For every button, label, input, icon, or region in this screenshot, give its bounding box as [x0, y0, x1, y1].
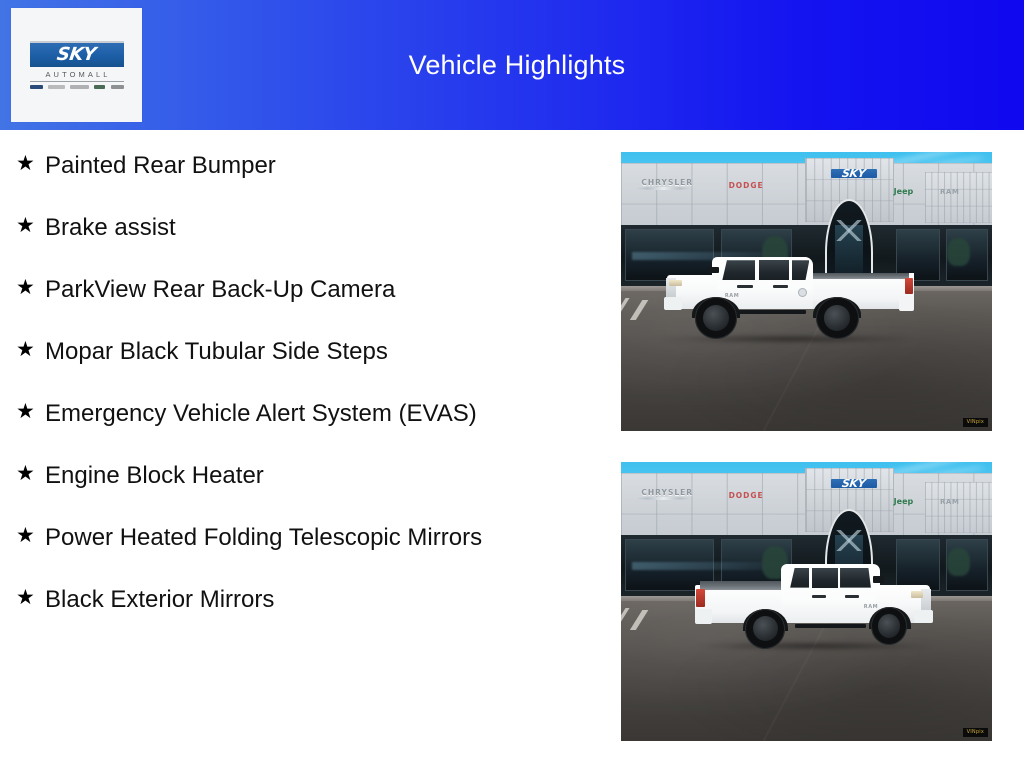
star-bullet-icon: ★: [13, 520, 45, 551]
ram-pickup-truck: RAM: [662, 244, 914, 339]
star-bullet-icon: ★: [13, 272, 45, 303]
ram-sign: RAM: [940, 189, 959, 196]
side-mirror: [873, 576, 884, 583]
taillight: [696, 589, 704, 607]
chrysler-sign: CHRYSLER: [641, 179, 693, 187]
list-item-label: Emergency Vehicle Alert System (EVAS): [45, 396, 505, 431]
list-item-label: Power Heated Folding Telescopic Mirrors: [45, 520, 505, 555]
door-handle: [812, 595, 826, 598]
slide-header: Vehicle Highlights SKY AUTOMALL: [0, 0, 1024, 130]
truck-bed-floor: [700, 581, 790, 590]
front-door-window: [722, 260, 755, 280]
vehicle-highlights-list: ★ Painted Rear Bumper ★ Brake assist ★ P…: [0, 130, 600, 768]
building-right-wing: [925, 482, 992, 534]
list-item: ★ ParkView Rear Back-Up Camera: [13, 272, 600, 307]
dodge-mark-icon: [48, 85, 65, 89]
rear-door-window: [759, 260, 789, 280]
list-item: ★ Brake assist: [13, 210, 600, 245]
list-item: ★ Emergency Vehicle Alert System (EVAS): [13, 396, 600, 431]
chrysler-sign: CHRYSLER: [641, 489, 693, 497]
star-bullet-icon: ★: [13, 396, 45, 427]
ram-sign: RAM: [940, 499, 959, 506]
rear-wheel: [816, 297, 859, 339]
rear-rim: [753, 616, 778, 641]
vehicle-highlights-slide: Vehicle Highlights SKY AUTOMALL ★: [0, 0, 1024, 768]
sky-dealership-sign: SKY: [831, 479, 877, 488]
building-panel-lines: [925, 172, 992, 224]
dealership-scene: CHRYSLER DODGE Jeep RAM SKY: [621, 462, 992, 741]
list-item-label: Mopar Black Tubular Side Steps: [45, 334, 505, 369]
image-watermark: VINpix: [963, 418, 988, 427]
rear-bumper: [899, 296, 914, 311]
rear-door-window: [812, 568, 838, 588]
rear-rim: [824, 305, 851, 331]
list-item-label: Engine Block Heater: [45, 458, 505, 493]
truck-bed-rail: [806, 273, 909, 280]
dodge-sign: DODGE: [729, 182, 764, 190]
side-mirror: [708, 267, 718, 273]
automall-subtitle: AUTOMALL: [27, 70, 127, 79]
list-item-label: ParkView Rear Back-Up Camera: [45, 272, 505, 307]
list-item-label: Black Exterior Mirrors: [45, 582, 505, 617]
tree-reflection: [947, 548, 969, 576]
logo-brand-marks: [30, 85, 124, 89]
jeep-mark-icon: [94, 85, 105, 89]
front-door-window: [840, 568, 871, 588]
sky-logo-text: SKY: [56, 46, 97, 64]
list-item: ★ Engine Block Heater: [13, 458, 600, 493]
rear-bumper: [695, 609, 712, 624]
building-panel-lines: [925, 482, 992, 534]
ram-badge: RAM: [864, 604, 879, 610]
tubular-side-step: [795, 624, 866, 628]
jeep-sign: Jeep: [894, 498, 914, 506]
ram-mark-icon: [70, 85, 89, 89]
fiat-mark-icon: [111, 85, 124, 89]
list-item: ★ Mopar Black Tubular Side Steps: [13, 334, 600, 369]
dodge-sign: DODGE: [729, 492, 764, 500]
dealership-scene: CHRYSLER DODGE Jeep RAM SKY: [621, 152, 992, 431]
headlight: [911, 591, 923, 598]
ram-pickup-truck: RAM: [695, 548, 932, 648]
list-item: ★ Painted Rear Bumper: [13, 148, 600, 183]
star-bullet-icon: ★: [13, 582, 45, 613]
sky-logo-badge: SKY: [30, 41, 124, 67]
tree-reflection: [947, 238, 969, 266]
logo-divider: [30, 81, 124, 82]
rear-wheel: [745, 609, 785, 649]
star-bullet-icon: ★: [13, 334, 45, 365]
fuel-door: [798, 288, 807, 297]
door-handle: [773, 285, 788, 288]
star-bullet-icon: ★: [13, 210, 45, 241]
arch-lattice: [831, 220, 866, 241]
star-bullet-icon: ★: [13, 148, 45, 179]
front-rim: [878, 614, 900, 638]
front-wheel: [695, 297, 738, 339]
front-bumper: [664, 297, 682, 309]
jeep-sign: Jeep: [894, 188, 914, 196]
door-handle: [845, 595, 859, 598]
building-right-wing: [925, 172, 992, 224]
sky-dealership-sign: SKY: [831, 169, 877, 178]
list-item: ★ Power Heated Folding Telescopic Mirror…: [13, 520, 600, 555]
list-item-label: Brake assist: [45, 210, 505, 245]
taillight: [905, 278, 913, 294]
front-rim: [703, 305, 730, 331]
image-watermark: VINpix: [963, 728, 988, 737]
vehicle-photo-driver-side[interactable]: CHRYSLER DODGE Jeep RAM SKY: [621, 152, 992, 431]
front-bumper: [914, 610, 933, 623]
door-handle: [737, 285, 752, 288]
list-item-label: Painted Rear Bumper: [45, 148, 505, 183]
sky-sign-text: SKY: [841, 167, 866, 180]
headlight: [669, 280, 682, 286]
page-title: Vehicle Highlights: [0, 0, 1024, 130]
sky-automall-logo[interactable]: SKY AUTOMALL: [11, 8, 142, 122]
list-item: ★ Black Exterior Mirrors: [13, 582, 600, 617]
sky-sign-text: SKY: [841, 477, 866, 490]
vehicle-photo-rear-quarter[interactable]: CHRYSLER DODGE Jeep RAM SKY: [621, 462, 992, 741]
front-wheel: [871, 607, 907, 645]
star-bullet-icon: ★: [13, 458, 45, 489]
chrysler-mark-icon: [30, 85, 43, 89]
